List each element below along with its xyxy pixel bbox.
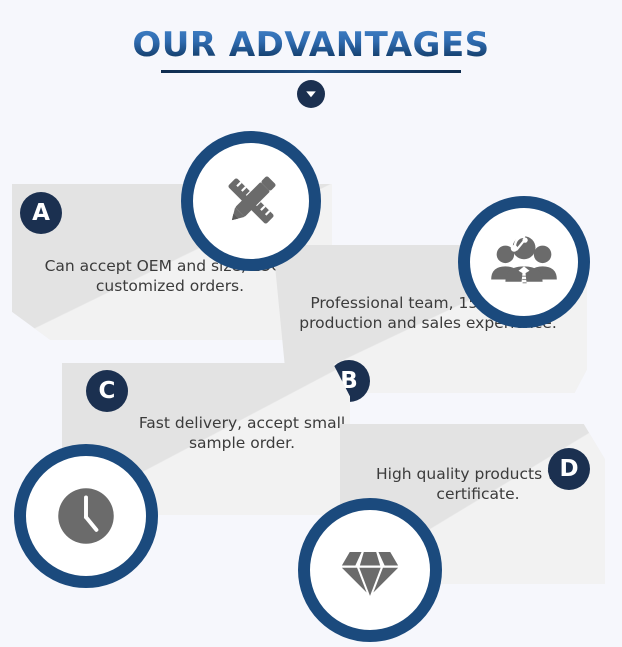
page-title: OUR ADVANTAGES [0,28,622,73]
advantage-badge-d: D [548,448,590,490]
title-underline [161,70,461,73]
advantage-badge-c: C [86,370,128,412]
pencil-ruler-icon [181,131,321,271]
chevron-down-icon [297,80,325,108]
clock-icon [14,444,158,588]
advantage-badge-a: A [20,192,62,234]
diamond-icon [298,498,442,642]
advantage-text-c: Fast delivery, accept small sample order… [132,413,352,454]
page-title-text: OUR ADVANTAGES [128,28,493,66]
team-people-icon [458,196,590,328]
infographic-canvas: OUR ADVANTAGES Can accept OEM and size, … [0,0,622,647]
